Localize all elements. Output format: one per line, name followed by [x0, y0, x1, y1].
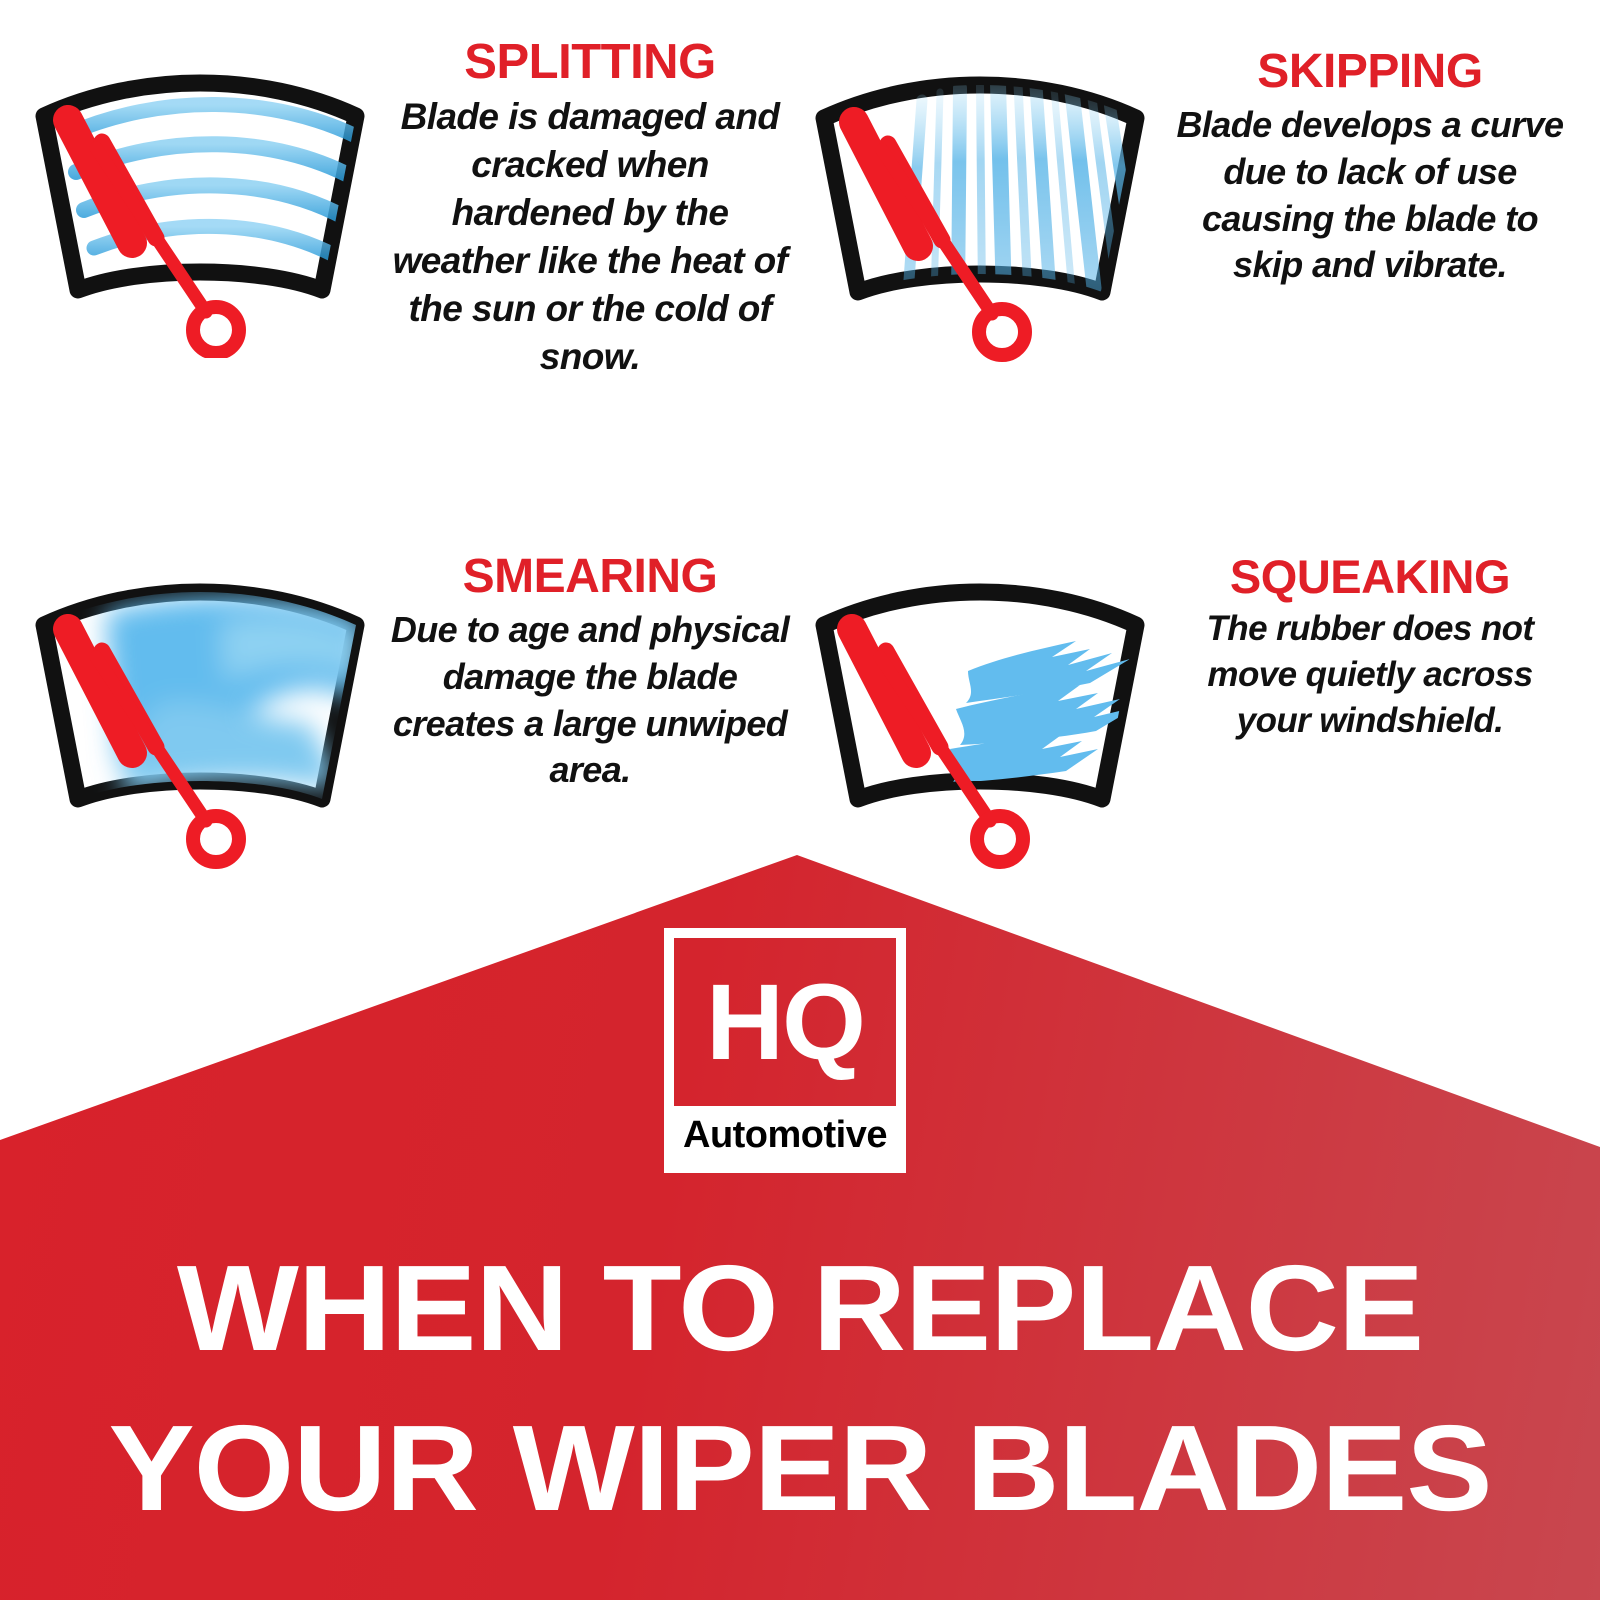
symptom-title: SMEARING	[390, 553, 790, 601]
symptom-text-skipping: SKIPPING Blade develops a curve due to l…	[1170, 48, 1570, 289]
page-title: WHEN TO REPLACE YOUR WIPER BLADES	[0, 1228, 1600, 1548]
symptom-title: SPLITTING	[390, 38, 790, 87]
symptom-description: Blade develops a curve due to lack of us…	[1170, 102, 1570, 289]
logo-mark-area: HQ	[674, 938, 896, 1106]
headline-line-2: YOUR WIPER BLADES	[0, 1388, 1600, 1548]
headline-line-1: WHEN TO REPLACE	[0, 1228, 1600, 1388]
hq-automotive-logo: HQ Automotive	[664, 928, 906, 1173]
symptom-text-smearing: SMEARING Due to age and physical damage …	[390, 553, 790, 794]
symptom-text-splitting: SPLITTING Blade is damaged and cracked w…	[390, 38, 790, 382]
infographic-canvas: SPLITTING Blade is damaged and cracked w…	[0, 0, 1600, 1600]
symptom-title: SQUEAKING	[1170, 553, 1570, 600]
symptom-title: SKIPPING	[1170, 48, 1570, 96]
windshield-wiper-streaks-icon	[790, 48, 1170, 368]
symptom-description: Blade is damaged and cracked when harden…	[390, 93, 790, 382]
logo-mark-text: HQ	[706, 968, 864, 1076]
symptom-description: The rubber does not move quietly across …	[1170, 606, 1570, 745]
symptom-text-squeaking: SQUEAKING The rubber does not move quiet…	[1170, 553, 1570, 745]
symptom-description: Due to age and physical damage the blade…	[390, 607, 790, 794]
windshield-wiper-zigzag-icon	[790, 553, 1170, 873]
windshield-wiper-arcs-icon	[10, 38, 390, 358]
logo-wordmark-text: Automotive	[683, 1116, 887, 1154]
logo-wordmark-area: Automotive	[674, 1106, 896, 1163]
windshield-wiper-smudge-icon	[10, 553, 390, 873]
